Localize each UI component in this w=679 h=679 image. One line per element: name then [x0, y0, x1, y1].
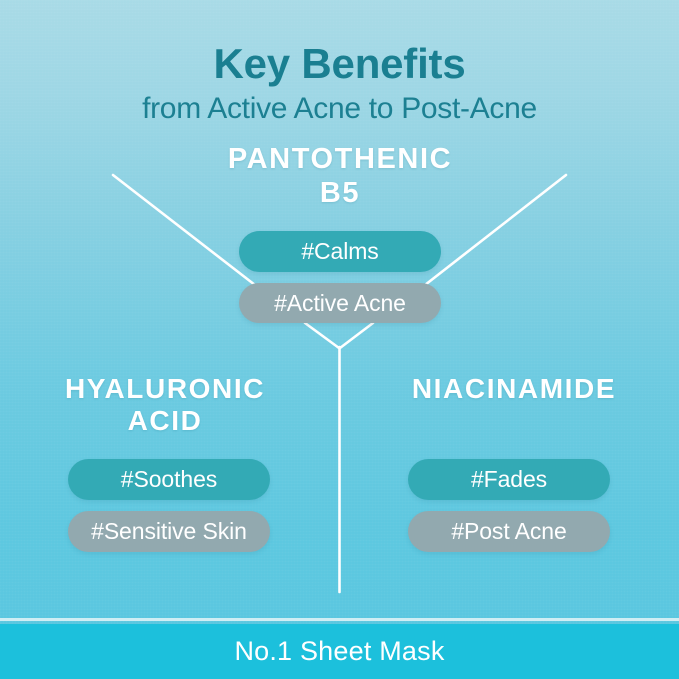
page-title: Key Benefits — [0, 41, 679, 86]
condition-tag-label: #Active Acne — [274, 290, 406, 317]
benefit-tag-soothes: #Soothes — [68, 459, 270, 500]
ingredient-title-line1: HYALURONIC — [65, 373, 265, 404]
benefit-tag-label: #Fades — [471, 466, 547, 493]
ingredient-title-line1: PANTOTHENIC — [228, 143, 452, 175]
condition-tag-label: #Post Acne — [451, 518, 566, 545]
benefit-tag-label: #Soothes — [121, 466, 217, 493]
ingredient-title-pantothenic-b5: PANTOTHENIC B5 — [170, 143, 510, 210]
condition-tag-label: #Sensitive Skin — [91, 518, 247, 545]
benefit-tag-fades: #Fades — [408, 459, 610, 500]
ingredient-title-line2: ACID — [128, 405, 203, 436]
condition-tag-sensitive-skin: #Sensitive Skin — [68, 511, 270, 552]
benefit-tag-calms: #Calms — [239, 231, 441, 272]
footer-divider — [0, 618, 679, 621]
benefit-tag-label: #Calms — [301, 238, 378, 265]
ingredient-title-hyaluronic-acid: HYALURONIC ACID — [20, 373, 310, 438]
ingredient-title-niacinamide: NIACINAMIDE — [369, 373, 659, 405]
ingredient-title-line1: NIACINAMIDE — [412, 373, 616, 404]
key-benefits-infographic: Key Benefits from Active Acne to Post-Ac… — [0, 0, 679, 679]
condition-tag-post-acne: #Post Acne — [408, 511, 610, 552]
footer-bar: No.1 Sheet Mask — [0, 624, 679, 679]
footer-label: No.1 Sheet Mask — [234, 636, 444, 667]
page-subtitle: from Active Acne to Post-Acne — [0, 92, 679, 127]
condition-tag-active-acne: #Active Acne — [239, 283, 441, 323]
ingredient-title-line2: B5 — [320, 177, 360, 209]
